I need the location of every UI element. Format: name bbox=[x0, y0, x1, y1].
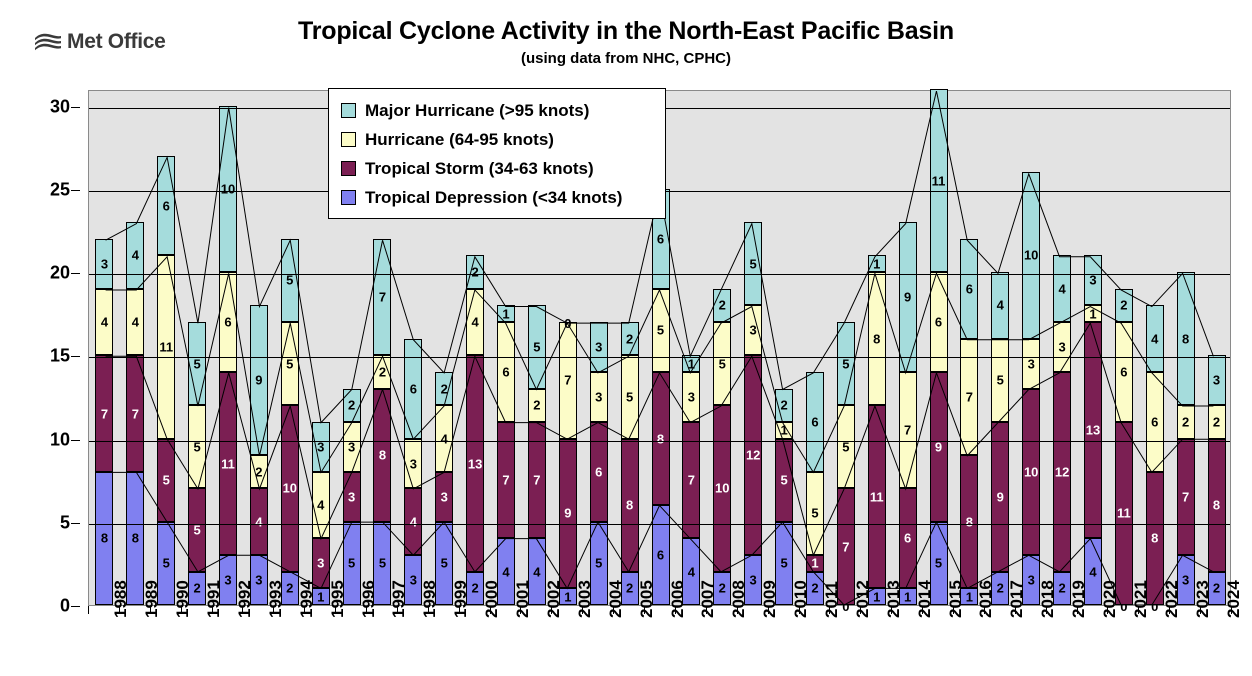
bar-value-label: 10 bbox=[1023, 465, 1039, 478]
bar-value-label: 11 bbox=[1116, 507, 1132, 520]
x-axis-tick bbox=[520, 606, 521, 614]
bar-segment[interactable]: 7 bbox=[1177, 439, 1195, 556]
x-axis-tick-label: 2000 bbox=[482, 580, 502, 618]
bar-column[interactable]: 55116 bbox=[157, 89, 175, 605]
bar-segment[interactable]: 6 bbox=[157, 156, 175, 256]
bar-value-label: 6 bbox=[591, 465, 607, 478]
y-axis-tick bbox=[71, 606, 80, 607]
bar-value-label: 6 bbox=[220, 316, 236, 329]
bar-column[interactable]: 31235 bbox=[744, 89, 762, 605]
bar-value-label: 7 bbox=[900, 424, 916, 437]
bar-segment[interactable]: 1 bbox=[497, 305, 515, 322]
x-axis-tick-label: 2011 bbox=[822, 581, 842, 618]
bar-column[interactable]: 01162 bbox=[1115, 89, 1133, 605]
bar-segment[interactable]: 3 bbox=[312, 422, 330, 472]
bar-value-label: 7 bbox=[838, 540, 854, 553]
x-axis-tick-label: 2008 bbox=[729, 580, 749, 618]
bar-segment[interactable]: 4 bbox=[404, 488, 422, 555]
bar-value-label: 9 bbox=[992, 490, 1008, 503]
y-axis: No. of TCs 051015202530 bbox=[0, 90, 80, 606]
bar-value-label: 3 bbox=[96, 257, 112, 270]
y-axis-tick-label: 30 bbox=[50, 96, 70, 117]
bar-value-label: 6 bbox=[961, 282, 977, 295]
bar-column[interactable]: 310310 bbox=[1022, 89, 1040, 605]
x-axis-tick-label: 2018 bbox=[1038, 580, 1058, 618]
bar-column[interactable]: 3429 bbox=[250, 89, 268, 605]
bar-segment[interactable]: 11 bbox=[1115, 422, 1133, 605]
bar-value-label: 5 bbox=[282, 274, 298, 287]
x-axis-tick bbox=[1200, 606, 1201, 614]
x-axis-tick-label: 2006 bbox=[668, 580, 688, 618]
bar-segment[interactable]: 2 bbox=[1208, 405, 1226, 438]
chart-subtitle: (using data from NHC, CPHC) bbox=[0, 50, 1252, 67]
x-axis-tick bbox=[1107, 606, 1108, 614]
bar-segment[interactable]: 12 bbox=[744, 355, 762, 555]
bar-column[interactable]: 21052 bbox=[713, 89, 731, 605]
bar-segment[interactable]: 4 bbox=[435, 405, 453, 472]
y-axis-tick bbox=[71, 107, 80, 108]
bar-segment[interactable]: 3 bbox=[343, 422, 361, 472]
bar-value-label: 3 bbox=[1023, 357, 1039, 370]
bar-value-label: 3 bbox=[344, 440, 360, 453]
x-axis-tick-label: 1993 bbox=[266, 580, 286, 618]
bar-segment[interactable]: 5 bbox=[528, 305, 546, 388]
bar-segment[interactable]: 3 bbox=[1053, 322, 1071, 372]
y-axis-tick-label: 10 bbox=[50, 429, 70, 450]
bar-column[interactable]: 8744 bbox=[126, 89, 144, 605]
legend-swatch bbox=[341, 103, 356, 118]
x-axis-tick bbox=[88, 606, 89, 614]
bar-value-label: 5 bbox=[591, 557, 607, 570]
bar-value-label: 7 bbox=[1178, 490, 1194, 503]
x-axis-tick-label: 2015 bbox=[946, 580, 966, 618]
x-axis-tick-label: 1996 bbox=[359, 580, 379, 618]
bar-value-label: 8 bbox=[1209, 499, 1225, 512]
legend-item[interactable]: Major Hurricane (>95 knots) bbox=[341, 96, 655, 125]
bar-segment[interactable]: 5 bbox=[188, 322, 206, 405]
bar-column[interactable]: 11181 bbox=[868, 89, 886, 605]
bar-segment[interactable]: 6 bbox=[590, 422, 608, 522]
bar-value-label: 1 bbox=[776, 424, 792, 437]
bar-segment[interactable]: 6 bbox=[806, 372, 824, 472]
bar-value-label: 4 bbox=[405, 515, 421, 528]
bar-value-label: 3 bbox=[405, 457, 421, 470]
chart-legend: Major Hurricane (>95 knots)Hurricane (64… bbox=[328, 88, 666, 219]
bar-segment[interactable]: 5 bbox=[744, 222, 762, 305]
bar-value-label: 7 bbox=[683, 474, 699, 487]
bar-value-label: 5 bbox=[807, 507, 823, 520]
bar-value-label: 2 bbox=[622, 332, 638, 345]
bar-segment[interactable]: 13 bbox=[1084, 322, 1102, 538]
bar-value-label: 4 bbox=[1085, 565, 1101, 578]
bar-value-label: 3 bbox=[344, 490, 360, 503]
bar-value-label: 3 bbox=[436, 490, 452, 503]
bar-segment[interactable]: 5 bbox=[713, 322, 731, 405]
bar-segment[interactable]: 3 bbox=[590, 372, 608, 422]
bar-segment[interactable]: 8 bbox=[1208, 439, 1226, 572]
bar-value-label: 6 bbox=[900, 532, 916, 545]
bar-value-label: 1 bbox=[807, 557, 823, 570]
x-axis-tick-label: 1995 bbox=[328, 580, 348, 618]
bar-segment[interactable]: 7 bbox=[682, 422, 700, 539]
bar-segment[interactable]: 10 bbox=[281, 405, 299, 571]
bar-segment[interactable]: 5 bbox=[806, 472, 824, 555]
x-axis-tick bbox=[1231, 606, 1232, 614]
bar-column[interactable]: 21055 bbox=[281, 89, 299, 605]
bar-segment[interactable]: 6 bbox=[497, 322, 515, 422]
bar-segment[interactable]: 6 bbox=[1146, 372, 1164, 472]
x-axis-tick-label: 1999 bbox=[451, 580, 471, 618]
bar-column[interactable]: 41313 bbox=[1084, 89, 1102, 605]
bar-column[interactable]: 4731 bbox=[682, 89, 700, 605]
bar-segment[interactable]: 3 bbox=[343, 472, 361, 522]
x-axis-tick-label: 1992 bbox=[235, 580, 255, 618]
bar-value-label: 1 bbox=[683, 357, 699, 370]
bar-value-label: 8 bbox=[622, 499, 638, 512]
bar-value-label: 0 bbox=[559, 316, 577, 331]
bar-value-label: 8 bbox=[653, 432, 669, 445]
bar-segment[interactable]: 4 bbox=[1146, 305, 1164, 372]
x-axis-tick bbox=[273, 606, 274, 614]
bar-segment[interactable]: 3 bbox=[95, 239, 113, 289]
bar-segment[interactable]: 3 bbox=[404, 439, 422, 489]
bar-segment[interactable]: 13 bbox=[466, 355, 484, 571]
bar-column[interactable]: 59611 bbox=[930, 89, 948, 605]
y-axis-tick-label: 20 bbox=[50, 263, 70, 284]
bar-segment[interactable]: 7 bbox=[497, 422, 515, 539]
x-axis-tick bbox=[551, 606, 552, 614]
bar-segment[interactable]: 11 bbox=[868, 405, 886, 588]
bar-value-label: 4 bbox=[992, 299, 1008, 312]
bar-segment[interactable]: 7 bbox=[373, 239, 391, 356]
bar-segment[interactable]: 5 bbox=[188, 405, 206, 488]
bar-value-label: 5 bbox=[158, 474, 174, 487]
bar-value-label: 10 bbox=[1023, 249, 1039, 262]
bar-value-label: 11 bbox=[220, 457, 236, 470]
bar-segment[interactable]: 2 bbox=[373, 355, 391, 388]
bar-value-label: 6 bbox=[158, 199, 174, 212]
bar-segment[interactable]: 3 bbox=[1022, 339, 1040, 389]
bar-value-label: 6 bbox=[653, 549, 669, 562]
bar-value-label: 5 bbox=[622, 390, 638, 403]
bar-segment[interactable]: 1 bbox=[806, 555, 824, 572]
bar-segment[interactable]: 2 bbox=[1177, 405, 1195, 438]
bar-segment[interactable]: 4 bbox=[126, 289, 144, 356]
legend-label: Tropical Storm (34-63 knots) bbox=[365, 159, 594, 179]
y-axis-tick bbox=[71, 273, 80, 274]
y-axis-tick-label: 5 bbox=[60, 512, 70, 533]
bar-value-label: 4 bbox=[436, 432, 452, 445]
bar-value-label: 5 bbox=[529, 340, 545, 353]
bar-column[interactable]: 3728 bbox=[1177, 89, 1195, 605]
bar-value-label: 9 bbox=[931, 440, 947, 453]
bar-segment[interactable]: 3 bbox=[435, 472, 453, 522]
bar-value-label: 5 bbox=[745, 257, 761, 270]
bar-value-label: 3 bbox=[745, 324, 761, 337]
bar-segment[interactable]: 5 bbox=[837, 405, 855, 488]
bar-value-label: 3 bbox=[683, 390, 699, 403]
x-axis-tick-label: 1990 bbox=[173, 580, 193, 618]
bar-value-label: 2 bbox=[714, 299, 730, 312]
bar-value-label: 4 bbox=[127, 316, 143, 329]
bar-segment[interactable]: 9 bbox=[250, 305, 268, 455]
bar-segment[interactable]: 10 bbox=[1022, 172, 1040, 338]
bar-value-label: 8 bbox=[1178, 332, 1194, 345]
bar-segment[interactable]: 2 bbox=[435, 372, 453, 405]
bar-segment[interactable]: 10 bbox=[1022, 389, 1040, 555]
bar-segment[interactable]: 8 bbox=[960, 455, 978, 588]
x-axis-tick bbox=[119, 606, 120, 614]
legend-item[interactable]: Hurricane (64-95 knots) bbox=[341, 125, 655, 154]
y-axis-tick-label: 25 bbox=[50, 179, 70, 200]
x-axis-tick bbox=[706, 606, 707, 614]
bar-value-label: 4 bbox=[251, 515, 267, 528]
bar-column[interactable]: 2156 bbox=[806, 89, 824, 605]
bar-value-label: 13 bbox=[1085, 424, 1101, 437]
bar-segment[interactable]: 2 bbox=[466, 255, 484, 288]
bar-value-label: 8 bbox=[869, 332, 885, 345]
bar-value-label: 4 bbox=[127, 249, 143, 262]
x-axis-tick-label: 2019 bbox=[1069, 580, 1089, 618]
bar-value-label: 5 bbox=[374, 557, 390, 570]
bar-column[interactable]: 311610 bbox=[219, 89, 237, 605]
bar-segment[interactable]: 3 bbox=[1208, 355, 1226, 405]
bar-value-label: 11 bbox=[869, 490, 885, 503]
x-axis-tick bbox=[212, 606, 213, 614]
bar-value-label: 4 bbox=[1054, 282, 1070, 295]
bar-value-label: 6 bbox=[653, 232, 669, 245]
x-axis-tick-label: 2024 bbox=[1224, 580, 1244, 618]
bar-value-label: 5 bbox=[838, 440, 854, 453]
legend-label: Hurricane (64-95 knots) bbox=[365, 130, 554, 150]
bar-segment[interactable]: 9 bbox=[991, 422, 1009, 572]
bar-segment[interactable]: 4 bbox=[126, 222, 144, 289]
bar-segment[interactable]: 9 bbox=[559, 439, 577, 589]
bar-column[interactable]: 0864 bbox=[1146, 89, 1164, 605]
x-axis-tick bbox=[860, 606, 861, 614]
x-axis-tick-label: 1994 bbox=[297, 580, 317, 618]
bar-value-label: 5 bbox=[776, 557, 792, 570]
bar-segment[interactable]: 8 bbox=[373, 389, 391, 522]
y-axis-tick-label: 0 bbox=[60, 596, 70, 617]
bar-segment[interactable]: 2 bbox=[343, 389, 361, 422]
y-axis-tick bbox=[71, 523, 80, 524]
bar-value-label: 13 bbox=[467, 457, 483, 470]
x-axis-tick-label: 1989 bbox=[142, 580, 162, 618]
y-axis-tick bbox=[71, 356, 80, 357]
bar-segment[interactable]: 3 bbox=[1084, 255, 1102, 305]
x-axis-tick bbox=[799, 606, 800, 614]
x-axis-tick-label: 1998 bbox=[420, 580, 440, 618]
bar-value-label: 2 bbox=[467, 266, 483, 279]
bar-value-label: 5 bbox=[653, 324, 669, 337]
bar-segment[interactable]: 10 bbox=[219, 106, 237, 272]
bar-column[interactable]: 2555 bbox=[188, 89, 206, 605]
bar-segment[interactable]: 5 bbox=[157, 439, 175, 522]
bar-segment[interactable]: 11 bbox=[157, 255, 175, 438]
bar-segment[interactable]: 6 bbox=[1115, 322, 1133, 422]
bar-value-label: 5 bbox=[992, 374, 1008, 387]
bar-segment[interactable]: 5 bbox=[621, 355, 639, 438]
bar-value-label: 7 bbox=[374, 291, 390, 304]
bar-value-label: 2 bbox=[1178, 415, 1194, 428]
bar-segment[interactable]: 10 bbox=[713, 405, 731, 571]
bar-value-label: 6 bbox=[1147, 415, 1163, 428]
bar-segment[interactable]: 11 bbox=[219, 372, 237, 555]
bar-segment[interactable]: 7 bbox=[126, 355, 144, 472]
bar-segment[interactable]: 2 bbox=[250, 455, 268, 488]
bar-segment[interactable]: 7 bbox=[899, 372, 917, 489]
bar-value-label: 2 bbox=[1209, 415, 1225, 428]
bar-segment[interactable]: 6 bbox=[960, 239, 978, 339]
bar-segment[interactable]: 7 bbox=[559, 322, 577, 439]
bar-segment[interactable]: 5 bbox=[652, 289, 670, 372]
x-axis-tick bbox=[459, 606, 460, 614]
bar-column[interactable]: 1876 bbox=[960, 89, 978, 605]
bar-segment[interactable]: 5 bbox=[281, 322, 299, 405]
bar-segment[interactable]: 8 bbox=[868, 272, 886, 405]
bar-value-label: 6 bbox=[1116, 365, 1132, 378]
x-axis-tick-label: 1997 bbox=[389, 580, 409, 618]
bar-value-label: 6 bbox=[807, 415, 823, 428]
bar-segment[interactable]: 5 bbox=[991, 339, 1009, 422]
x-axis-tick bbox=[922, 606, 923, 614]
x-axis-tick bbox=[768, 606, 769, 614]
legend-label: Tropical Depression (<34 knots) bbox=[365, 188, 622, 208]
bar-segment[interactable]: 5 bbox=[837, 322, 855, 405]
bar-segment[interactable]: 4 bbox=[95, 289, 113, 356]
bar-value-label: 4 bbox=[96, 316, 112, 329]
x-axis-tick-label: 2017 bbox=[1007, 580, 1027, 618]
bar-segment[interactable]: 4 bbox=[466, 289, 484, 356]
bar-value-label: 4 bbox=[529, 565, 545, 578]
bar-segment[interactable]: 12 bbox=[1053, 372, 1071, 572]
bar-segment[interactable]: 11 bbox=[930, 89, 948, 272]
bar-segment[interactable]: 5 bbox=[188, 488, 206, 571]
bar-value-label: 2 bbox=[436, 382, 452, 395]
bar-segment[interactable]: 7 bbox=[95, 355, 113, 472]
legend-item[interactable]: Tropical Depression (<34 knots) bbox=[341, 183, 655, 212]
x-axis-tick bbox=[613, 606, 614, 614]
bar-segment[interactable]: 4 bbox=[312, 472, 330, 539]
bar-column[interactable]: 21234 bbox=[1053, 89, 1071, 605]
bar-segment[interactable]: 1 bbox=[868, 255, 886, 272]
bar-value-label: 11 bbox=[158, 340, 174, 353]
bar-segment[interactable]: 8 bbox=[621, 439, 639, 572]
x-axis-tick bbox=[984, 606, 985, 614]
bar-column[interactable]: 1343 bbox=[312, 89, 330, 605]
bar-segment[interactable]: 1 bbox=[1084, 305, 1102, 322]
bar-segment[interactable]: 9 bbox=[899, 222, 917, 372]
x-axis-tick bbox=[582, 606, 583, 614]
x-axis-tick bbox=[181, 606, 182, 614]
x-axis-tick bbox=[150, 606, 151, 614]
bar-segment[interactable]: 8 bbox=[1177, 272, 1195, 405]
bar-value-label: 9 bbox=[251, 374, 267, 387]
bar-segment[interactable]: 2 bbox=[528, 389, 546, 422]
bar-value-label: 5 bbox=[838, 357, 854, 370]
bar-value-label: 7 bbox=[498, 474, 514, 487]
bar-value-label: 5 bbox=[282, 357, 298, 370]
x-axis-tick-label: 2004 bbox=[606, 580, 626, 618]
bar-value-label: 3 bbox=[1085, 274, 1101, 287]
bar-value-label: 4 bbox=[683, 565, 699, 578]
bar-segment[interactable]: 3 bbox=[682, 372, 700, 422]
bar-segment[interactable]: 7 bbox=[528, 422, 546, 539]
bar-segment[interactable]: 7 bbox=[960, 339, 978, 456]
bar-column[interactable]: 8743 bbox=[95, 89, 113, 605]
bar-value-label: 7 bbox=[560, 374, 576, 387]
bar-segment[interactable]: 2 bbox=[1115, 289, 1133, 322]
x-axis-tick bbox=[490, 606, 491, 614]
bar-segment[interactable]: 2 bbox=[775, 389, 793, 422]
bar-column[interactable]: 2823 bbox=[1208, 89, 1226, 605]
bar-value-label: 10 bbox=[220, 182, 236, 195]
bar-segment[interactable]: 3 bbox=[744, 305, 762, 355]
bar-segment[interactable]: 6 bbox=[899, 488, 917, 588]
x-axis-tick-label: 2022 bbox=[1162, 580, 1182, 618]
x-axis-tick bbox=[1138, 606, 1139, 614]
x-axis-tick-label: 2013 bbox=[884, 580, 904, 618]
bar-value-label: 8 bbox=[961, 515, 977, 528]
bar-column[interactable]: 1679 bbox=[899, 89, 917, 605]
bar-value-label: 4 bbox=[498, 565, 514, 578]
bar-segment[interactable]: 9 bbox=[930, 372, 948, 522]
bar-segment[interactable]: 6 bbox=[404, 339, 422, 439]
bar-segment[interactable]: 4 bbox=[250, 488, 268, 555]
bar-value-label: 4 bbox=[1147, 332, 1163, 345]
x-axis-tick-label: 2023 bbox=[1193, 580, 1213, 618]
x-axis-tick bbox=[1077, 606, 1078, 614]
bar-value-label: 2 bbox=[529, 399, 545, 412]
bar-segment[interactable]: 2 bbox=[713, 289, 731, 322]
bar-value-label: 2 bbox=[374, 365, 390, 378]
bar-segment[interactable]: 4 bbox=[1053, 255, 1071, 322]
bar-segment[interactable]: 8 bbox=[652, 372, 670, 505]
bar-value-label: 8 bbox=[374, 449, 390, 462]
bar-value-label: 5 bbox=[158, 557, 174, 570]
x-axis-tick bbox=[644, 606, 645, 614]
bar-value-label: 7 bbox=[96, 407, 112, 420]
bar-column[interactable]: 0755 bbox=[837, 89, 855, 605]
x-axis-tick-label: 2005 bbox=[637, 580, 657, 618]
bar-segment[interactable]: 1 bbox=[775, 422, 793, 439]
bar-segment[interactable]: 2 bbox=[621, 322, 639, 355]
x-axis-tick-label: 2010 bbox=[791, 580, 811, 618]
x-axis-tick bbox=[675, 606, 676, 614]
bar-segment[interactable]: 3 bbox=[590, 322, 608, 372]
bar-segment[interactable]: 5 bbox=[775, 439, 793, 522]
x-axis-tick-label: 2002 bbox=[544, 580, 564, 618]
bar-value-label: 7 bbox=[961, 390, 977, 403]
bar-value-label: 8 bbox=[96, 532, 112, 545]
bar-value-label: 3 bbox=[313, 557, 329, 570]
bar-column[interactable]: 5512 bbox=[775, 89, 793, 605]
bar-value-label: 1 bbox=[869, 257, 885, 270]
legend-item[interactable]: Tropical Storm (34-63 knots) bbox=[341, 154, 655, 183]
bar-value-label: 7 bbox=[127, 407, 143, 420]
bar-segment[interactable]: 5 bbox=[281, 239, 299, 322]
bar-column[interactable]: 2954 bbox=[991, 89, 1009, 605]
bar-value-label: 12 bbox=[1054, 465, 1070, 478]
bar-segment[interactable]: 4 bbox=[991, 272, 1009, 339]
x-axis-tick bbox=[737, 606, 738, 614]
bar-value-label: 1 bbox=[498, 307, 514, 320]
bar-value-label: 5 bbox=[189, 357, 205, 370]
x-axis-tick bbox=[304, 606, 305, 614]
y-axis-tick-label: 15 bbox=[50, 346, 70, 367]
x-axis-tick-label: 2007 bbox=[698, 580, 718, 618]
